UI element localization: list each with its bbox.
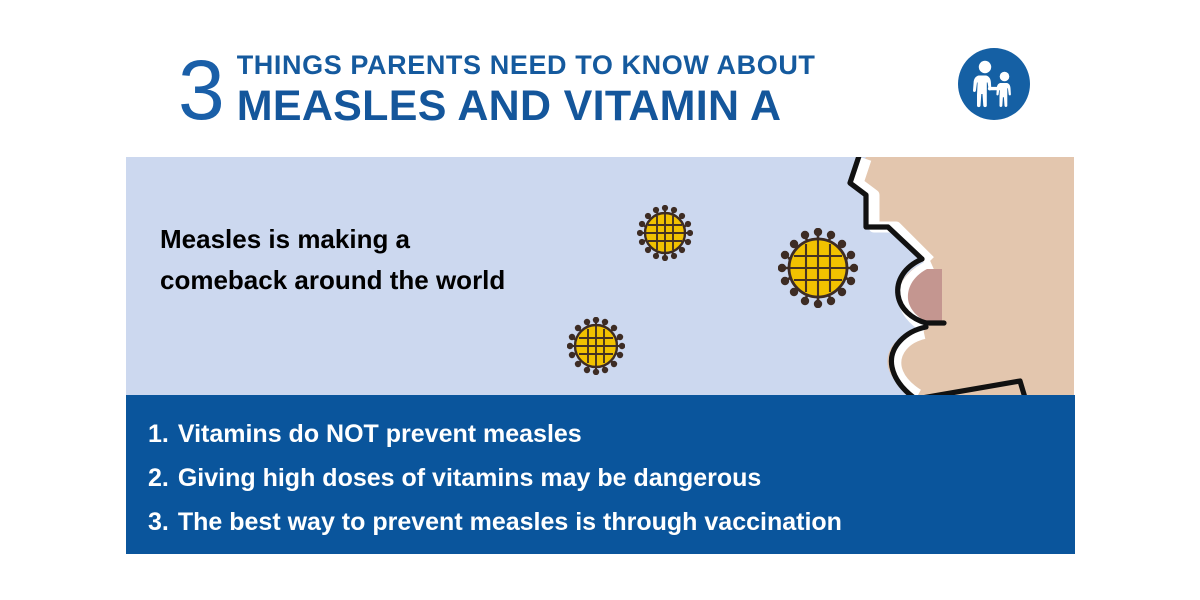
fact-number: 3. [148, 500, 169, 544]
measles-vitamin-a-infographic: 3 THINGS PARENTS NEED TO KNOW ABOUT MEAS… [0, 0, 1200, 600]
statement-text: Measles is making a comeback around the … [160, 219, 630, 301]
fact-number: 1. [148, 412, 169, 456]
statement-line-1: Measles is making a [160, 219, 630, 260]
page-title: MEASLES AND VITAMIN A [237, 82, 816, 130]
fact-text: The best way to prevent measles is throu… [178, 500, 842, 544]
list-item: 1. Vitamins do NOT prevent measles [148, 412, 1075, 456]
measles-virus-particle-1 [637, 205, 693, 261]
headline-count: 3 [178, 42, 223, 138]
fact-number: 2. [148, 456, 169, 500]
list-item: 3. The best way to prevent measles is th… [148, 500, 1075, 544]
parent-child-icon [958, 48, 1030, 120]
fact-text: Giving high doses of vitamins may be dan… [178, 456, 761, 500]
title-stack: THINGS PARENTS NEED TO KNOW ABOUT MEASLE… [237, 38, 816, 130]
fact-text: Vitamins do NOT prevent measles [178, 412, 582, 456]
headline-kicker: THINGS PARENTS NEED TO KNOW ABOUT [237, 50, 816, 80]
key-facts-bar: 1. Vitamins do NOT prevent measles 2. Gi… [126, 395, 1075, 554]
header: 3 THINGS PARENTS NEED TO KNOW ABOUT MEAS… [178, 38, 1058, 146]
measles-virus-particle-2 [778, 228, 858, 308]
measles-virus-particle-3 [567, 317, 625, 375]
illustration-panel: Measles is making a comeback around the … [126, 157, 1074, 395]
statement-line-2: comeback around the world [160, 260, 630, 301]
list-item: 2. Giving high doses of vitamins may be … [148, 456, 1075, 500]
